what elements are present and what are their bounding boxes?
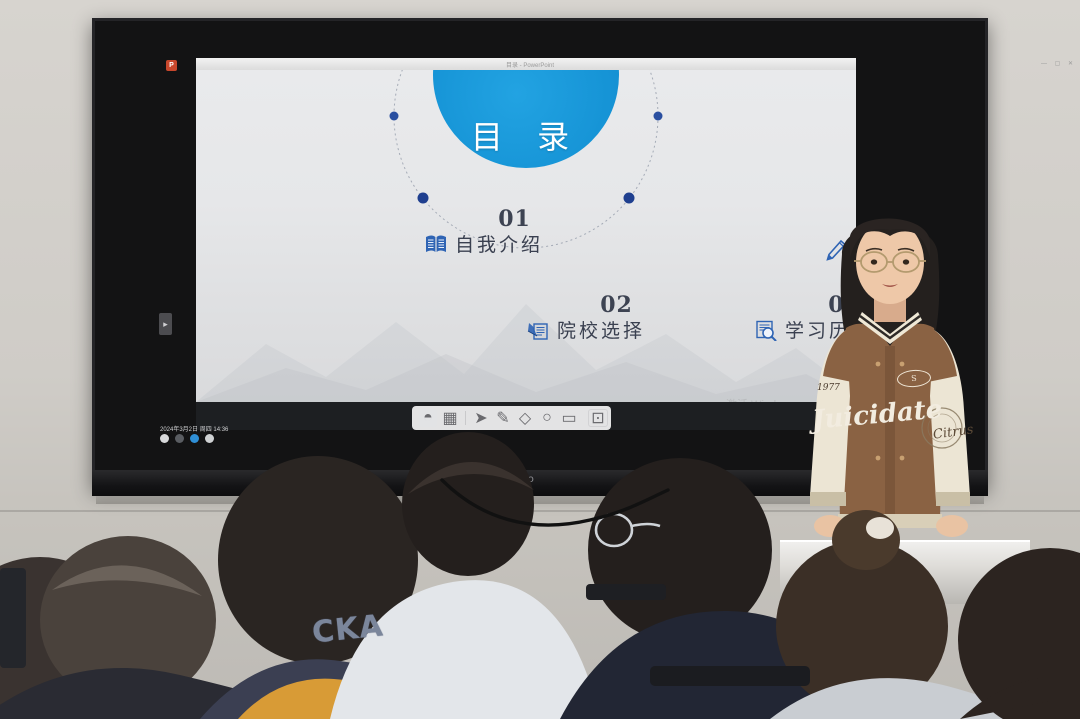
more-tools-icon[interactable]: ⊡	[588, 409, 608, 427]
palette-icon[interactable]: ◓	[419, 409, 437, 427]
slide-canvas[interactable]: 目 录 01 自我介绍 04	[196, 70, 856, 402]
window-controls[interactable]: — ▢ ✕	[1041, 60, 1076, 67]
powerpoint-icon: P	[166, 60, 177, 71]
slide-grid-icon[interactable]: ▦	[441, 409, 459, 427]
eraser-icon[interactable]: ◇	[516, 409, 534, 427]
toc-item-01[interactable]: 01 自我介绍	[424, 206, 543, 257]
toc-item-02[interactable]: 02 院校选择	[526, 292, 645, 343]
ppt-window-title: 目录 - PowerPoint	[400, 60, 660, 69]
display-cable	[440, 476, 670, 546]
pen-icon[interactable]: ✎	[494, 409, 512, 427]
toc-number: 01	[486, 206, 543, 232]
present-screen-icon[interactable]: ▭	[560, 409, 578, 427]
document-search-icon	[754, 319, 778, 341]
jacket-year: 1977	[817, 383, 840, 393]
toolbar-divider	[465, 411, 466, 425]
sidebar-expand-handle[interactable]: ▸	[159, 313, 172, 335]
cursor-icon[interactable]: ➤	[472, 409, 490, 427]
slide-title: 目 录	[471, 112, 581, 158]
open-book-icon	[424, 233, 448, 255]
toc-number: 02	[588, 292, 645, 318]
screenshot-root: seewo ▸ P 目录 - PowerPoint — ▢ ✕ 目 录 01	[0, 0, 1080, 719]
presentation-toolbar[interactable]: ◓ ▦ ➤ ✎ ◇ ○ ▭ ⊡	[412, 406, 611, 430]
toc-label: 院校选择	[557, 316, 645, 343]
magnifier-icon[interactable]: ○	[538, 409, 556, 427]
toc-label: 自我介绍	[455, 230, 543, 257]
chair-backs	[0, 540, 1080, 719]
pen-note-icon	[526, 319, 550, 341]
